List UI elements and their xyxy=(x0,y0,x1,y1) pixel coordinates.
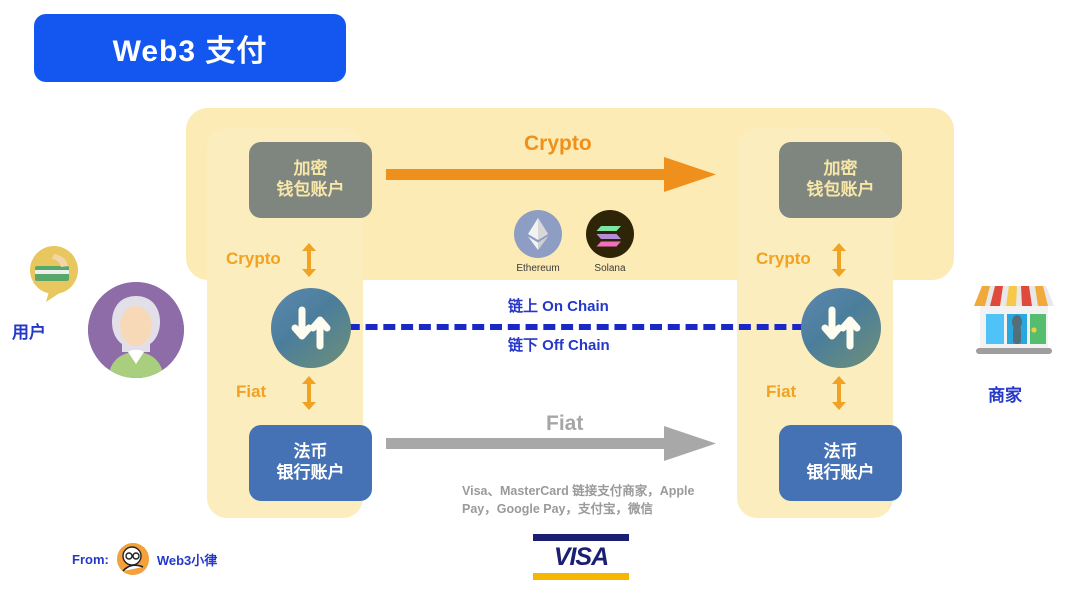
merchant-fiat-bank-box: 法币 银行账户 xyxy=(779,425,902,501)
merchant-crypto-updown-arrow-icon xyxy=(830,243,848,277)
merchant-bank-line2: 银行账户 xyxy=(807,463,875,484)
diagram-canvas: Web3 支付 Crypto Ethereum xyxy=(0,0,1080,604)
page-title-text: Web3 支付 xyxy=(113,26,268,70)
merchant-fiat-updown-arrow-icon xyxy=(830,376,848,410)
user-wallet-line2: 钱包账户 xyxy=(277,180,345,201)
page-title: Web3 支付 xyxy=(34,14,346,82)
fiat-flow-arrow-icon xyxy=(386,425,716,463)
author-avatar-icon xyxy=(117,543,149,575)
visa-wordmark: VISA xyxy=(533,543,629,571)
merchant-label: 商家 xyxy=(988,381,1022,406)
user-bank-line2: 银行账户 xyxy=(277,463,345,484)
storefront-icon xyxy=(966,272,1062,364)
footer-author-name: Web3小律 xyxy=(157,550,217,569)
merchant-exchange-icon xyxy=(801,288,881,368)
chain-logo-solana: Solana xyxy=(575,210,645,274)
fiat-providers-note: Visa、MasterCard 链接支付商家，Apple Pay，Google … xyxy=(462,482,718,518)
crypto-flow-arrow-icon xyxy=(386,155,716,195)
user-crypto-wallet-box: 加密 钱包账户 xyxy=(249,142,372,218)
merchant-bank-line1: 法币 xyxy=(824,442,858,463)
solana-logo-icon xyxy=(586,210,634,258)
chain-name-ethereum: Ethereum xyxy=(503,263,573,274)
chain-logo-ethereum: Ethereum xyxy=(503,210,573,274)
visa-top-bar xyxy=(533,534,629,541)
visa-logo-icon: VISA xyxy=(533,534,629,580)
user-crypto-updown-arrow-icon xyxy=(300,243,318,277)
on-chain-label: 链上 On Chain xyxy=(508,295,609,316)
merchant-fiat-label: Fiat xyxy=(766,382,796,402)
merchant-wallet-line2: 钱包账户 xyxy=(807,180,875,201)
user-crypto-label: Crypto xyxy=(226,249,281,269)
chain-name-solana: Solana xyxy=(575,263,645,274)
off-chain-label: 链下 Off Chain xyxy=(508,334,610,355)
user-fiat-bank-box: 法币 银行账户 xyxy=(249,425,372,501)
user-exchange-icon xyxy=(271,288,351,368)
footer-credit: From: Web3小律 xyxy=(72,543,217,575)
merchant-crypto-label: Crypto xyxy=(756,249,811,269)
crypto-flow-label: Crypto xyxy=(524,132,592,156)
chain-divider-line xyxy=(330,324,822,330)
user-fiat-updown-arrow-icon xyxy=(300,376,318,410)
user-avatar-icon xyxy=(88,282,184,378)
ethereum-logo-icon xyxy=(514,210,562,258)
card-payment-bubble-icon xyxy=(24,246,86,302)
footer-from-label: From: xyxy=(72,552,109,567)
user-fiat-label: Fiat xyxy=(236,382,266,402)
user-wallet-line1: 加密 xyxy=(294,159,328,180)
merchant-wallet-line1: 加密 xyxy=(824,159,858,180)
merchant-crypto-wallet-box: 加密 钱包账户 xyxy=(779,142,902,218)
user-bank-line1: 法币 xyxy=(294,442,328,463)
visa-bottom-bar xyxy=(533,573,629,580)
user-label: 用户 xyxy=(12,318,46,343)
